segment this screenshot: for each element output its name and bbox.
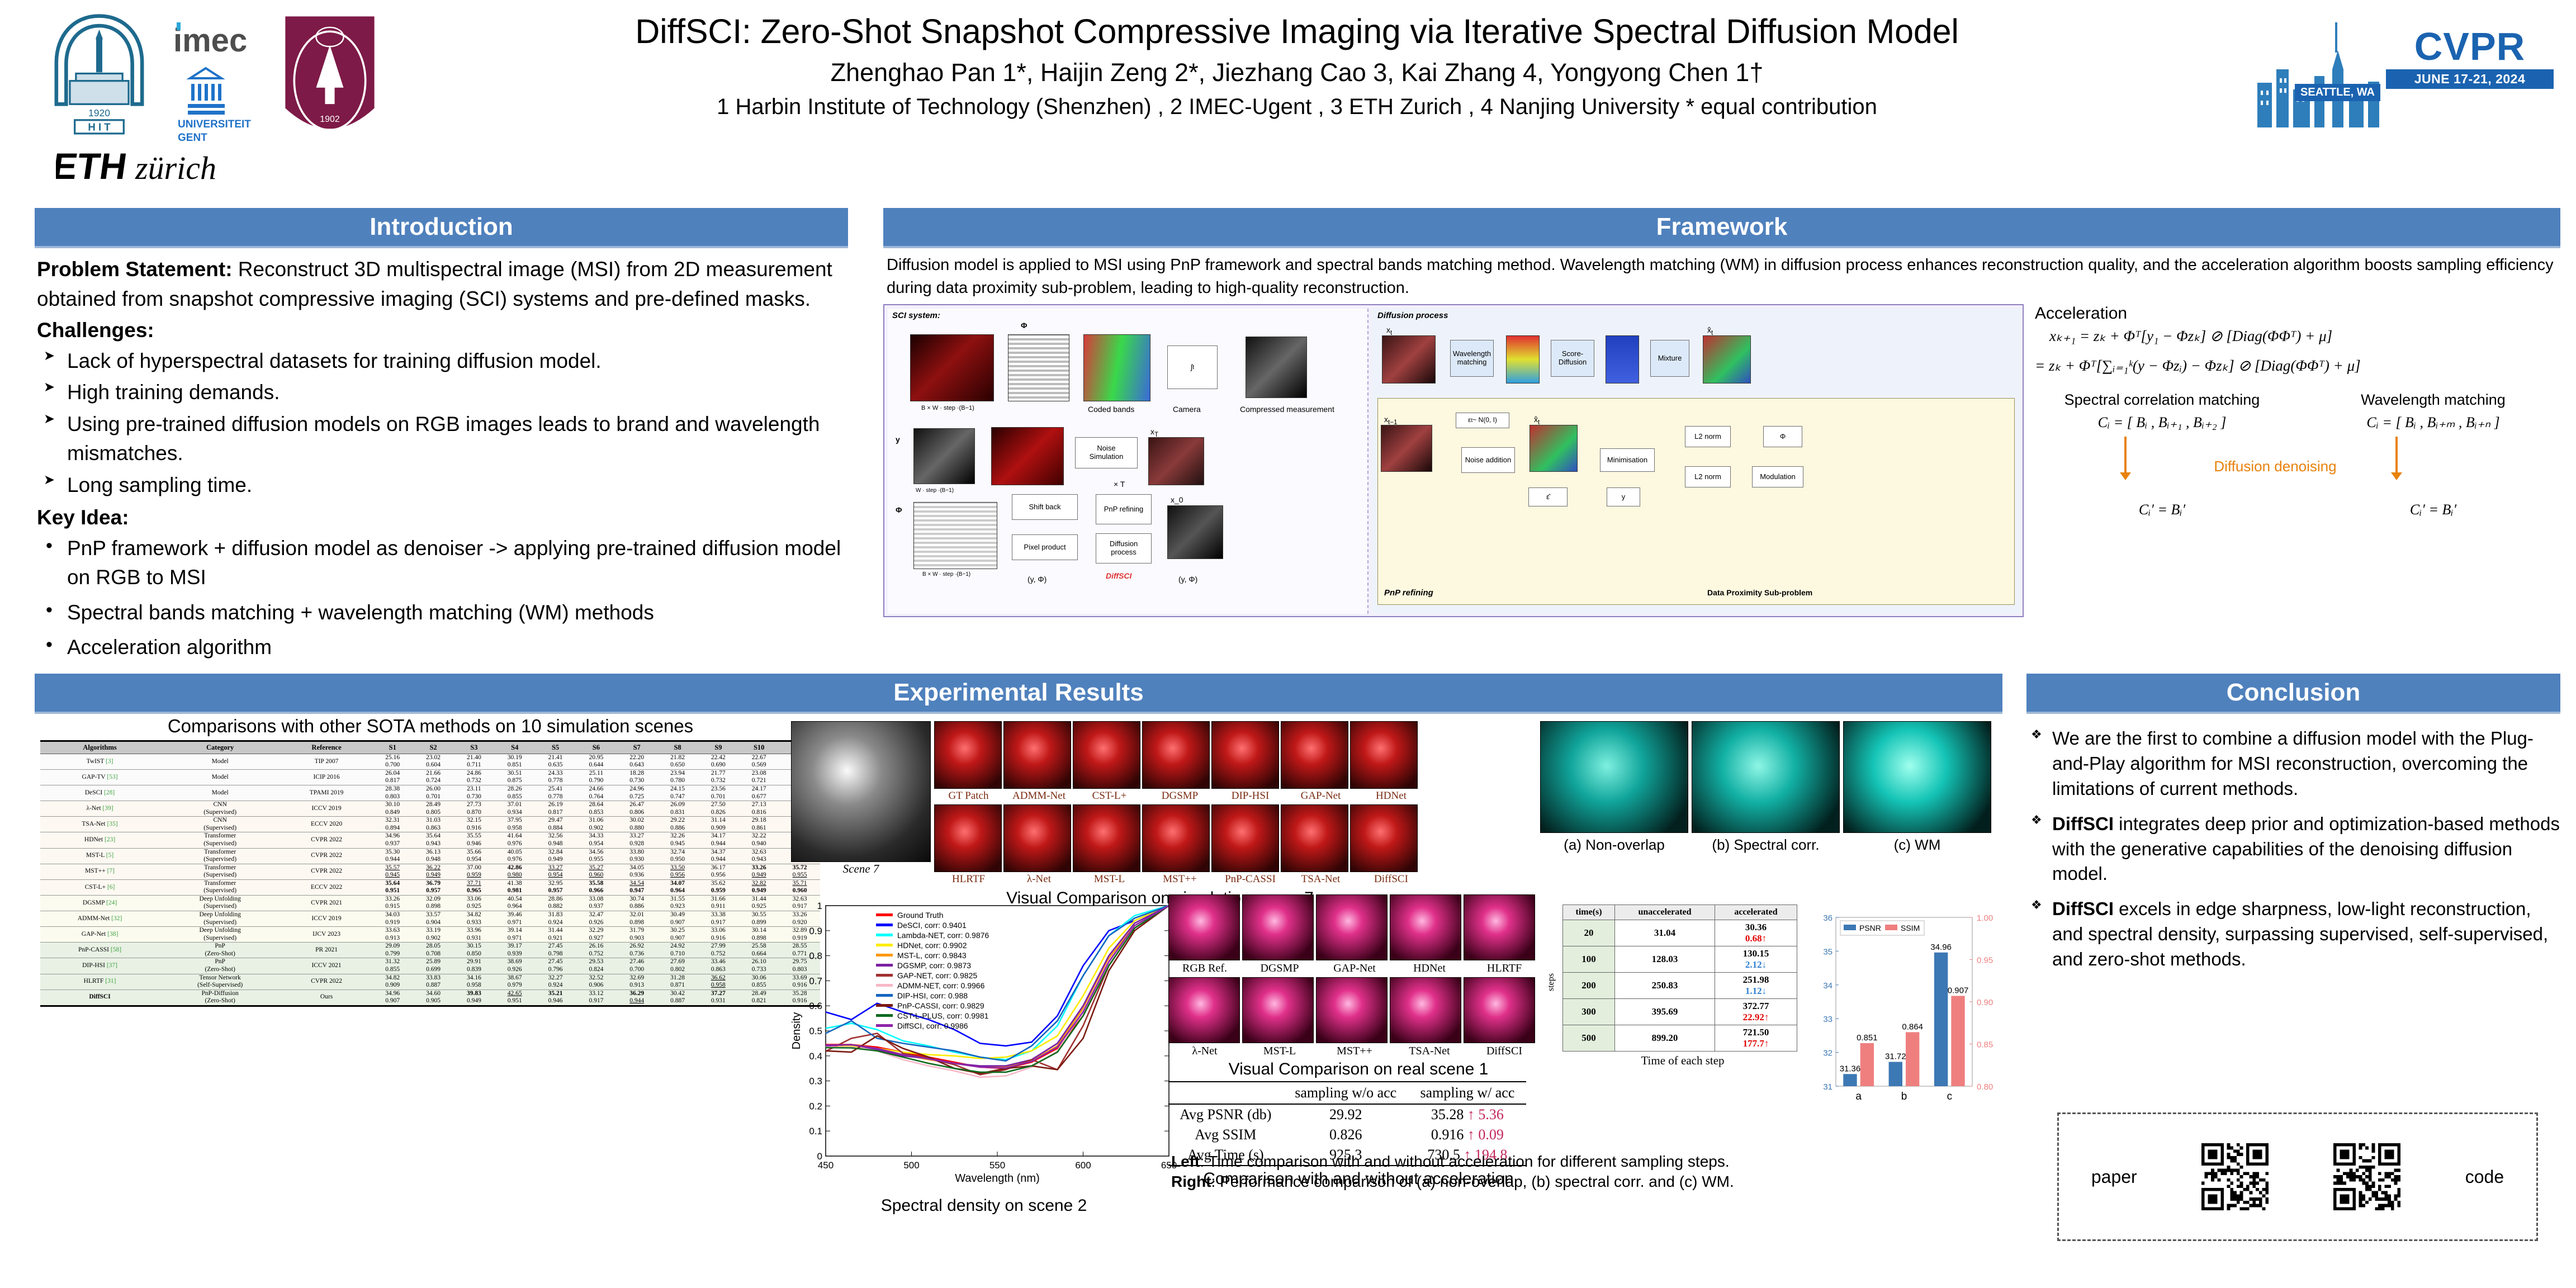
acc-value-w: 35.28 ↑ 5.36 (1409, 1104, 1526, 1125)
acc-header-row: sampling w/o accsampling w/ acc (1168, 1082, 1526, 1104)
cell-reference: CVPR 2022 (281, 864, 372, 879)
column-header: S4 (494, 741, 535, 754)
svg-text:33: 33 (1823, 1015, 1832, 1024)
comparison-patch (1350, 721, 1418, 789)
cell-reference: ECCV 2020 (281, 817, 372, 832)
cell-metric: 29.090.799 (372, 943, 413, 958)
svg-text:0.3: 0.3 (809, 1076, 822, 1087)
cell-category: PnP(Zero-Shot) (159, 943, 281, 958)
list-item: Long sampling time. (37, 471, 846, 500)
cell-algorithm: DIP-HSI [37] (40, 958, 159, 974)
svg-text:31.72: 31.72 (1885, 1052, 1906, 1062)
method-patch-grid: GT PatchADMM-NetCST-L+DGSMPDIP-HSIGAP-Ne… (934, 721, 1426, 885)
wavelength-matching-output: Cᵢ′ = Bᵢ′ (2306, 501, 2560, 518)
column-header: S3 (453, 741, 494, 754)
real-image-row-2 (1168, 977, 1549, 1043)
key-idea-label: Key Idea: (37, 503, 846, 533)
svg-text:Wavelength (nm): Wavelength (nm) (955, 1172, 1040, 1185)
wm-label-a: (a) Non-overlap (1540, 836, 1688, 854)
cell-metric: 21.660.724 (413, 769, 454, 785)
cell-metric: 31.440.925 (738, 895, 779, 911)
table-row: GAP-Net [38]Deep Unfolding(Supervised)IJ… (40, 927, 820, 943)
column-header: S6 (576, 741, 617, 754)
xhat-t-symbol: x̂t (1707, 325, 1713, 337)
cell-metric: 32.520.906 (576, 974, 617, 989)
cell-reference: PR 2021 (281, 943, 372, 958)
acc-value-wo: 0.826 (1283, 1125, 1409, 1145)
comparison-patch-label: λ-Net (1005, 873, 1073, 885)
cell-metric: 24.860.732 (453, 769, 494, 785)
cvpr-location: SEATTLE, WA (2295, 84, 2380, 101)
wavelength-matching: Wavelength matching Cᵢ = [ Bᵢ , Bᵢ₊ₘ , B… (2306, 391, 2560, 431)
cell-metric: 26.090.831 (657, 801, 698, 817)
comparison-patch-label: DiffSCI (1357, 873, 1426, 885)
cell-reference: CVPR 2022 (281, 832, 372, 848)
real-image-row-1 (1168, 894, 1549, 960)
svg-text:35: 35 (1823, 947, 1832, 956)
cell-metric: 32.630.943 (738, 848, 779, 864)
y-phi-label: (y, Φ) (1027, 575, 1046, 584)
real-label-row-2: λ-NetMST-LMST++TSA-NetDiffSCI (1168, 1045, 1549, 1058)
time-accelerated: 251.981.12↓ (1715, 973, 1797, 999)
spectral-density-chart: 00.10.20.30.40.50.60.70.80.9145050055060… (791, 900, 1177, 1213)
svg-text:31: 31 (1823, 1082, 1832, 1092)
cell-metric: 35.640.943 (413, 832, 454, 848)
cell-metric: 26.920.736 (617, 943, 657, 958)
paper-qr-label: paper (2091, 1167, 2137, 1187)
cell-reference: Ours (281, 989, 372, 1006)
conclusion-list: We are the first to combine a diffusion … (2026, 726, 2560, 972)
cell-metric: 25.110.790 (576, 769, 617, 785)
cell-metric: 30.490.907 (657, 911, 698, 927)
cell-metric: 30.740.886 (617, 895, 657, 911)
framework-diagram: SCI system: Φ B × W · step ·(B−1) Coded … (883, 304, 2024, 617)
cell-metric: 32.220.940 (738, 832, 779, 848)
cell-metric: 28.050.708 (413, 943, 454, 958)
svg-text:34: 34 (1823, 981, 1832, 991)
experimental-results-heading: Experimental Results (35, 674, 2002, 714)
list-item: PnP framework + diffusion model as denoi… (37, 534, 846, 593)
diffsci-label: DiffSCI (1106, 571, 1131, 580)
cell-metric: 24.920.710 (657, 943, 698, 958)
cell-metric: 33.630.913 (372, 927, 413, 943)
cell-metric: 23.080.721 (738, 769, 779, 785)
table-row: TwIST [3]ModelTIP 200725.160.70023.020.6… (40, 754, 820, 769)
framework-heading: Framework (883, 208, 2560, 248)
cell-metric: 32.270.924 (535, 974, 576, 989)
svg-text:PSNR: PSNR (1859, 924, 1881, 932)
note-right-text: : Performance comparison of (a) non-over… (1211, 1173, 1734, 1190)
comparison-patch (1073, 721, 1140, 789)
cell-metric: 41.380.981 (494, 879, 535, 895)
spectral-corr-output: Cᵢ′ = Bᵢ′ (2035, 501, 2289, 518)
svg-text:UNIVERSITEIT: UNIVERSITEIT (178, 119, 251, 130)
comparison-patch (934, 804, 1002, 872)
list-item: Using pre-trained diffusion models on RG… (37, 410, 846, 468)
sci-system-panel: SCI system: Φ B × W · step ·(B−1) Coded … (888, 309, 1368, 614)
cell-metric: 36.130.948 (413, 848, 454, 864)
svg-text:0.85: 0.85 (1977, 1040, 1993, 1050)
spectral-corr-equation: Cᵢ = [ Bᵢ , Bᵢ₊₁ , Bᵢ₊₂ ] (2035, 414, 2289, 431)
cell-metric: 24.170.677 (738, 785, 779, 801)
svg-text:SSIM: SSIM (1901, 924, 1920, 932)
challenges-list: Lack of hyperspectral datasets for train… (37, 347, 846, 500)
svg-text:MST-L, corr: 0.9843: MST-L, corr: 0.9843 (897, 951, 967, 960)
shifted-cube-icon (991, 427, 1064, 485)
time-table-row: 100128.03130.152.12↓ (1563, 946, 1797, 973)
cell-metric: 33.190.902 (413, 927, 454, 943)
section-experimental-results: Experimental Results (35, 674, 2002, 714)
cell-metric: 32.310.894 (372, 817, 413, 832)
wm-image-wm (1843, 721, 1991, 833)
list-item: We are the first to combine a diffusion … (2026, 726, 2560, 802)
time-table-row: 300395.69372.7722.92↑ (1563, 999, 1797, 1025)
results-table-caption: Comparisons with other SOTA methods on 1… (39, 716, 822, 737)
xt-cube-icon (1382, 335, 1436, 383)
noise-addition-block: Noise addition (1461, 447, 1515, 473)
title-block: DiffSCI: Zero-Shot Snapshot Compressive … (358, 12, 2236, 120)
compressed-measurement-label: Compressed measurement (1240, 405, 1334, 414)
list-item: DiffSCI integrates deep prior and optimi… (2026, 812, 2560, 887)
svg-text:1: 1 (817, 901, 822, 911)
phi-dims-label: B × W · step ·(B−1) (922, 571, 970, 577)
cell-metric: 31.060.902 (576, 817, 617, 832)
cvpr-branding: CVPR JUNE 17-21, 2024 (2386, 27, 2554, 89)
noise-simulation-block: NoiseSimulation (1075, 437, 1138, 468)
svg-text:500: 500 (903, 1160, 919, 1171)
logo-group-left: 1920 H I T imec UNIVERSITEIT G (22, 4, 391, 189)
wavelength-matching-title: Wavelength matching (2306, 391, 2560, 409)
author-list: Zhenghao Pan 1*, Haijin Zeng 2*, Jiezhan… (358, 58, 2236, 87)
svg-text:0.864: 0.864 (1902, 1022, 1923, 1031)
table-row: HLRTF [31]Tensor Network(Self-Supervised… (40, 974, 820, 989)
pnp-refining-block: PnP refining (1096, 494, 1152, 524)
cell-metric: 22.670.569 (738, 754, 779, 769)
svg-text:0.80: 0.80 (1977, 1082, 1993, 1092)
cell-metric: 39.460.971 (494, 911, 535, 927)
cell-category: Model (159, 754, 281, 769)
cell-metric: 26.190.817 (535, 801, 576, 817)
time-table-row: 500899.20721.50177.7↑ (1563, 1025, 1797, 1052)
cell-metric: 33.120.917 (576, 989, 617, 1006)
time-table-row: 200250.83251.981.12↓ (1563, 973, 1797, 999)
acc-table-row: Avg PSNR (db)29.9235.28 ↑ 5.36 (1168, 1104, 1526, 1125)
xt-1-cube-icon (1381, 425, 1432, 472)
scene-grayscale-image (791, 721, 931, 862)
epsilon-hat-block: ε̂ (1528, 487, 1568, 506)
cell-metric: 37.270.931 (698, 989, 738, 1006)
xt-symbol-2: xt (1386, 325, 1392, 337)
cell-metric: 32.150.916 (453, 817, 494, 832)
cell-algorithm: DeSCI [28] (40, 785, 159, 801)
real-scene-patch (1390, 894, 1461, 960)
performance-bar-svg: 3132333435360.800.850.900.951.0031.360.8… (1811, 908, 2001, 1110)
cell-metric: 25.410.778 (535, 785, 576, 801)
cell-metric: 34.820.909 (372, 974, 413, 989)
cell-metric: 33.080.937 (576, 895, 617, 911)
cell-algorithm: TwIST [3] (40, 754, 159, 769)
cell-metric: 33.060.925 (453, 895, 494, 911)
real-scene-patch (1464, 894, 1535, 960)
time-unaccelerated: 899.20 (1615, 1025, 1715, 1052)
steps-axis-label: steps (1546, 973, 1556, 991)
scene-dims-label: B × W · step ·(B−1) (921, 405, 974, 411)
comparison-patch-label: DGSMP (1145, 790, 1214, 802)
xt-1-symbol: xt−1 (1384, 415, 1398, 426)
cell-metric: 20.950.644 (576, 754, 617, 769)
comparison-patch-label: GAP-Net (1286, 790, 1355, 802)
cell-metric: 33.260.949 (738, 864, 779, 879)
mixture-block: Mixture (1650, 340, 1689, 377)
denoised-bands-icon (1606, 335, 1639, 383)
cell-metric: 37.010.934 (494, 801, 535, 817)
comparison-patch (1003, 721, 1071, 789)
acceleration-equation-2: = zₖ + Φᵀ[∑ᵢ₌₁ᵏ(y − Φzᵢ) − Φzₖ] ⊘ [Diag(… (2035, 357, 2560, 375)
comparison-patch (1142, 804, 1210, 872)
cell-metric: 34.370.944 (698, 848, 738, 864)
cell-metric: 24.660.764 (576, 785, 617, 801)
svg-text:ETH: ETH (56, 146, 130, 187)
cell-metric: 29.910.839 (453, 958, 494, 974)
acceleration-title: Acceleration (2035, 304, 2560, 323)
cell-metric: 30.020.880 (617, 817, 657, 832)
sci-system-label: SCI system: (892, 311, 940, 320)
cell-metric: 32.820.949 (738, 879, 779, 895)
cell-metric: 34.820.933 (453, 911, 494, 927)
cell-metric: 33.960.931 (453, 927, 494, 943)
cell-metric: 34.960.907 (372, 989, 413, 1006)
cell-metric: 33.460.863 (698, 958, 738, 974)
cell-metric: 33.270.928 (617, 832, 657, 848)
table-row: MST-L [5]Transformer(Supervised)CVPR 202… (40, 848, 820, 864)
real-scene-patch-label: HDNet (1393, 962, 1466, 975)
cell-metric: 34.600.905 (413, 989, 454, 1006)
cell-metric: 39.140.971 (494, 927, 535, 943)
cell-metric: 33.830.887 (413, 974, 454, 989)
acc-value-w: 0.916 ↑ 0.09 (1409, 1125, 1526, 1145)
cell-reference: ICIP 2016 (281, 769, 372, 785)
time-unaccelerated: 128.03 (1615, 946, 1715, 973)
svg-text:imec: imec (173, 22, 247, 59)
svg-text:Lambda-NET, corr: 0.9876: Lambda-NET, corr: 0.9876 (897, 931, 989, 940)
svg-text:ADMM-NET, corr: 0.9966: ADMM-NET, corr: 0.9966 (897, 981, 985, 990)
figure-notes: Left: Time comparison with and without a… (1171, 1152, 1786, 1192)
cell-metric: 34.560.955 (576, 848, 617, 864)
column-header: S5 (535, 741, 576, 754)
paper-qr-code-icon[interactable] (2201, 1143, 2269, 1210)
column-header: S7 (617, 741, 657, 754)
list-item: Lack of hyperspectral datasets for train… (37, 347, 846, 376)
cell-metric: 28.640.853 (576, 801, 617, 817)
time-step: 200 (1563, 973, 1615, 999)
column-header: Algorithms (40, 741, 159, 754)
phi-block: Φ (1763, 426, 1802, 447)
cell-metric: 36.170.956 (698, 864, 738, 879)
comparison-patch-label: GT Patch (934, 790, 1003, 802)
bands-stack-icon (1506, 335, 1540, 383)
acc-column-header: sampling w/ acc (1409, 1082, 1526, 1104)
cell-metric: 28.490.805 (413, 801, 454, 817)
svg-text:Ground Truth: Ground Truth (897, 911, 944, 920)
acc-column-header: sampling w/o acc (1283, 1082, 1409, 1104)
comparison-patch-label: CST-L+ (1075, 790, 1144, 802)
hit-logo: 1920 H I T (36, 12, 162, 141)
table-row: HDNet [23]Transformer(Supervised)CVPR 20… (40, 832, 820, 848)
cell-metric: 32.290.927 (576, 927, 617, 943)
time-accelerated: 130.152.12↓ (1715, 946, 1797, 973)
svg-text:b: b (1901, 1091, 1907, 1102)
cell-category: CNN(Supervised) (159, 801, 281, 817)
real-scene-patch-label: MST++ (1318, 1045, 1391, 1058)
comparison-patch (1211, 721, 1279, 789)
cell-metric: 31.660.911 (698, 895, 738, 911)
cell-metric: 35.300.944 (372, 848, 413, 864)
cell-reference: TPAMI 2019 (281, 785, 372, 801)
framework-body: Diffusion model is applied to MSI using … (883, 248, 2560, 300)
real-scene-patch-label: TSA-Net (1393, 1045, 1466, 1058)
svg-text:0.6: 0.6 (809, 1001, 822, 1011)
cell-category: Transformer(Supervised) (159, 848, 281, 864)
arrow-down-left-icon (2124, 434, 2127, 473)
svg-text:Density: Density (791, 1012, 803, 1050)
svg-text:1902: 1902 (320, 115, 340, 124)
cell-metric: 30.420.887 (657, 989, 698, 1006)
cell-metric: 30.060.855 (738, 974, 779, 989)
time-comparison-region: steps time(s)unacceleratedaccelerated 20… (1562, 905, 1803, 1068)
acc-value-wo: 29.92 (1283, 1104, 1409, 1125)
sota-comparison-table: AlgorithmsCategoryReferenceS1S2S3S4S5S6S… (40, 740, 820, 1007)
cell-category: PnP(Zero-Shot) (159, 958, 281, 974)
cell-metric: 41.640.976 (494, 832, 535, 848)
cell-metric: 36.620.958 (698, 974, 738, 989)
cell-metric: 23.940.780 (657, 769, 698, 785)
cell-metric: 26.000.701 (413, 785, 454, 801)
cell-metric: 30.190.851 (494, 754, 535, 769)
cell-metric: 35.570.945 (372, 864, 413, 879)
real-scene-patch (1316, 977, 1388, 1043)
svg-text:HDNet, corr: 0.9902: HDNet, corr: 0.9902 (897, 941, 967, 950)
cell-algorithm: MST++ [7] (40, 864, 159, 879)
phi-symbol: Φ (1021, 321, 1027, 330)
results-table-region: Comparisons with other SOTA methods on 1… (39, 710, 822, 1007)
svg-text:0.95: 0.95 (1977, 956, 1993, 965)
cell-metric: 35.550.946 (453, 832, 494, 848)
poster-header: 1920 H I T imec UNIVERSITEIT G (0, 0, 2576, 197)
cell-metric: 25.160.700 (372, 754, 413, 769)
scene-patch-group: Scene 7 (791, 721, 931, 885)
cell-metric: 27.450.798 (535, 943, 576, 958)
x0-symbol: x_0 (1171, 495, 1183, 504)
acc-column-header (1168, 1082, 1283, 1104)
cell-metric: 27.130.816 (738, 801, 779, 817)
y-measurement-icon (913, 428, 975, 484)
spectral-density-svg: 00.10.20.30.40.50.60.70.80.9145050055060… (791, 900, 1177, 1191)
section-conclusion: Conclusion We are the first to combine a… (2026, 674, 2560, 982)
y-phi-label-2: (y, Φ) (1178, 575, 1197, 584)
column-header: S10 (738, 741, 779, 754)
cell-metric: 33.570.904 (413, 911, 454, 927)
time-accelerated: 721.50177.7↑ (1715, 1025, 1797, 1052)
matching-comparison: Spectral correlation matching Cᵢ = [ Bᵢ … (2035, 391, 2560, 431)
cell-metric: 22.200.643 (617, 754, 657, 769)
cell-metric: 31.550.923 (657, 895, 698, 911)
svg-text:GAP-NET, corr: 0.9825: GAP-NET, corr: 0.9825 (897, 971, 977, 980)
wm-label-c: (c) WM (1843, 836, 1991, 854)
table-row: GAP-TV [53]ModelICIP 201626.040.81721.66… (40, 769, 820, 785)
column-header: Category (159, 741, 281, 754)
cell-metric: 23.020.604 (413, 754, 454, 769)
svg-text:34.96: 34.96 (1930, 943, 1952, 952)
cell-metric: 35.640.951 (372, 879, 413, 895)
cvpr-dates: JUNE 17-21, 2024 (2386, 69, 2554, 89)
qr-code-box: paper code (2057, 1112, 2538, 1241)
pixel-product-block: Pixel product (1012, 534, 1078, 560)
acc-row-label: Avg SSIM (1168, 1125, 1283, 1145)
table-row: TSA-Net [35]CNN(Supervised)ECCV 202032.3… (40, 817, 820, 832)
cell-metric: 33.260.915 (372, 895, 413, 911)
code-qr-code-icon[interactable] (2333, 1143, 2400, 1210)
cvpr-title: CVPR (2386, 27, 2554, 66)
cell-metric: 30.140.898 (738, 927, 779, 943)
shift-back-block: Shift back (1012, 494, 1078, 520)
cell-metric: 28.260.855 (494, 785, 535, 801)
cell-metric: 30.510.875 (494, 769, 535, 785)
real-scene-patch-label: RGB Ref. (1168, 962, 1241, 975)
real-scene-patch (1464, 977, 1535, 1043)
cell-metric: 36.220.949 (413, 864, 454, 879)
modulation-block: Modulation (1752, 466, 1803, 487)
comparison-patch (1350, 804, 1418, 872)
cell-metric: 31.280.871 (657, 974, 698, 989)
real-scene-patch (1242, 894, 1314, 960)
svg-text:36: 36 (1823, 913, 1832, 923)
svg-text:DeSCI, corr: 0.9401: DeSCI, corr: 0.9401 (897, 921, 967, 930)
cell-metric: 33.270.954 (535, 864, 576, 879)
time-accelerated: 30.360.68↑ (1715, 920, 1797, 946)
cell-metric: 31.790.903 (617, 927, 657, 943)
imec-logo: imec (173, 21, 274, 60)
cell-metric: 27.990.752 (698, 943, 738, 958)
real-scene-patch-label: HLRTF (1468, 962, 1541, 975)
real-scene-caption: Visual Comparison on real scene 1 (1168, 1060, 1549, 1079)
comparison-patch (1073, 804, 1140, 872)
cell-metric: 31.830.924 (535, 911, 576, 927)
real-scene-patch-label: DiffSCI (1468, 1045, 1541, 1058)
cell-category: Transformer(Supervised) (159, 864, 281, 879)
cell-reference: TIP 2007 (281, 754, 372, 769)
note-left-text: : Time comparison with and without accel… (1200, 1153, 1729, 1170)
acceleration-equation-1: xₖ₊₁ = zₖ + Φᵀ[y₁ − Φzₖ] ⊘ [Diag(ΦΦᵀ) + … (2049, 328, 2560, 345)
real-scene-patch-label: DGSMP (1243, 962, 1316, 975)
table-row: DIP-HSI [37]PnP(Zero-Shot)ICCV 202131.32… (40, 958, 820, 974)
cell-algorithm: ADMM-Net [32] (40, 911, 159, 927)
cell-metric: 40.540.964 (494, 895, 535, 911)
framework-math: Acceleration xₖ₊₁ = zₖ + Φᵀ[y₁ − Φzₖ] ⊘ … (2035, 304, 2560, 518)
comparison-patch-label: HLRTF (934, 873, 1003, 885)
table-row: λ-Net [39]CNN(Supervised)ICCV 201930.100… (40, 801, 820, 817)
phi-symbol-2: Φ (896, 505, 902, 514)
cell-metric: 25.890.699 (413, 958, 454, 974)
xT-cube-icon (1148, 437, 1204, 485)
cell-metric: 33.800.930 (617, 848, 657, 864)
list-item: High training demands. (37, 378, 846, 408)
cell-metric: 32.740.950 (657, 848, 698, 864)
comparison-patch-label: PnP-CASSI (1216, 873, 1285, 885)
list-item: Spectral bands matching + wavelength mat… (37, 598, 846, 628)
cell-metric: 30.250.907 (657, 927, 698, 943)
cell-metric: 23.110.730 (453, 785, 494, 801)
eth-zurich-logo: ETH zürich (56, 144, 240, 189)
